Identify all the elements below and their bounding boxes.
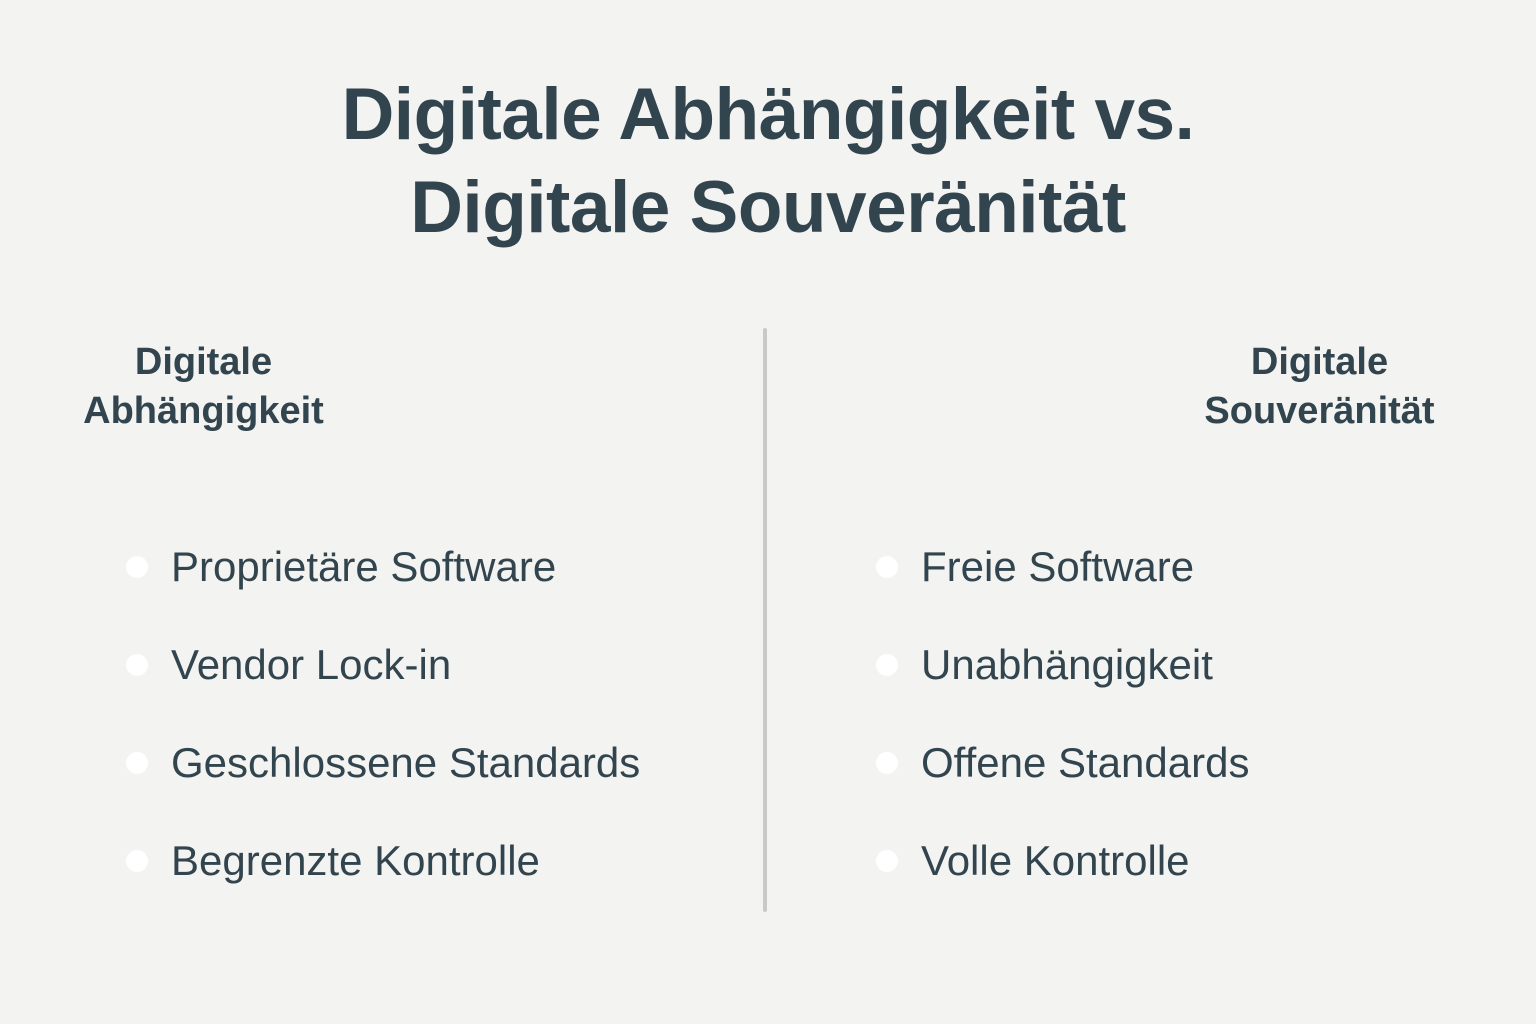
bullet-list-right: Freie Software Unabhängigkeit Offene Sta… — [768, 518, 1531, 910]
list-item: Geschlossene Standards — [126, 714, 768, 812]
comparison-columns: Digitale Abhängigkeit Proprietäre Softwa… — [0, 320, 1536, 920]
page-title-line-1: Digitale Abhängigkeit vs. — [0, 68, 1536, 161]
bullet-dot-icon — [126, 850, 148, 872]
list-item-label: Proprietäre Software — [171, 546, 556, 588]
column-digitale-souveraenitaet: Digitale Souveränität Freie Software Una… — [768, 320, 1531, 910]
bullet-dot-icon — [126, 654, 148, 676]
list-item-label: Freie Software — [921, 546, 1194, 588]
page-title: Digitale Abhängigkeit vs. Digitale Souve… — [0, 68, 1536, 255]
bullet-dot-icon — [876, 654, 898, 676]
list-item-label: Unabhängigkeit — [921, 644, 1213, 686]
list-item: Vendor Lock-in — [126, 616, 768, 714]
bullet-dot-icon — [876, 850, 898, 872]
list-item: Volle Kontrolle — [876, 812, 1531, 910]
bullet-dot-icon — [876, 752, 898, 774]
list-item: Unabhängigkeit — [876, 616, 1531, 714]
bullet-dot-icon — [876, 556, 898, 578]
bullet-dot-icon — [126, 556, 148, 578]
column-digitale-abhaengigkeit: Digitale Abhängigkeit Proprietäre Softwa… — [5, 320, 768, 910]
column-header-left: Digitale Abhängigkeit — [5, 338, 768, 435]
page-title-line-2: Digitale Souveränität — [0, 161, 1536, 254]
bullet-dot-icon — [126, 752, 148, 774]
list-item-label: Offene Standards — [921, 742, 1249, 784]
list-item-label: Geschlossene Standards — [171, 742, 640, 784]
list-item: Proprietäre Software — [126, 518, 768, 616]
column-header-right: Digitale Souveränität — [768, 338, 1531, 435]
bullet-list-left: Proprietäre Software Vendor Lock-in Gesc… — [5, 518, 768, 910]
list-item-label: Begrenzte Kontrolle — [171, 840, 540, 882]
list-item-label: Vendor Lock-in — [171, 644, 451, 686]
list-item: Offene Standards — [876, 714, 1531, 812]
list-item: Freie Software — [876, 518, 1531, 616]
comparison-slide: Digitale Abhängigkeit vs. Digitale Souve… — [0, 0, 1536, 1024]
list-item: Begrenzte Kontrolle — [126, 812, 768, 910]
list-item-label: Volle Kontrolle — [921, 840, 1190, 882]
